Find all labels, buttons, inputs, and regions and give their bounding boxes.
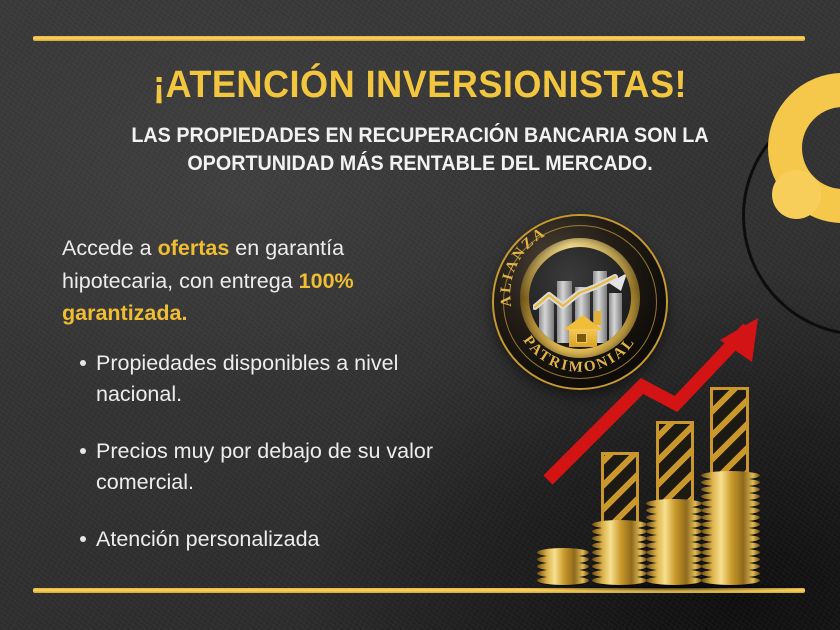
chart-bar (656, 421, 694, 507)
benefits-list: Propiedades disponibles a nivel nacional… (62, 348, 462, 555)
lead-paragraph: Accede a ofertas en garantía hipotecaria… (62, 232, 452, 330)
top-gold-divider (33, 36, 805, 41)
poster-canvas: ¡ATENCIÓN INVERSIONISTAS! LAS PROPIEDADE… (0, 0, 840, 630)
list-item-label: Precios muy por debajo de su valor comer… (96, 439, 433, 494)
lead-text-part1: Accede a (62, 236, 158, 260)
coin-stack (646, 499, 702, 585)
bullet-dot-icon (80, 360, 86, 366)
yellow-dot-decoration (772, 170, 821, 219)
coin (646, 576, 702, 585)
list-item: Precios muy por debajo de su valor comer… (62, 436, 462, 497)
coin-stack (537, 548, 589, 585)
lead-highlight-ofertas: ofertas (158, 236, 230, 260)
coin (537, 576, 589, 585)
chart-bar (710, 387, 749, 481)
list-item: Propiedades disponibles a nivel nacional… (62, 348, 462, 409)
bullet-dot-icon (80, 536, 86, 542)
coin (592, 576, 647, 585)
list-item-label: Atención personalizada (96, 527, 320, 551)
list-item: Atención personalizada (62, 524, 462, 555)
bullet-dot-icon (80, 448, 86, 454)
list-item-label: Propiedades disponibles a nivel nacional… (96, 351, 398, 406)
coin (701, 576, 760, 585)
subtitle: LAS PROPIEDADES EN RECUPERACIÓN BANCARIA… (129, 122, 712, 178)
coin-stack (701, 471, 760, 585)
page-title: ¡ATENCIÓN INVERSIONISTAS! (21, 64, 819, 107)
growth-chart-illustration (520, 300, 840, 600)
coin-stack (592, 520, 647, 585)
